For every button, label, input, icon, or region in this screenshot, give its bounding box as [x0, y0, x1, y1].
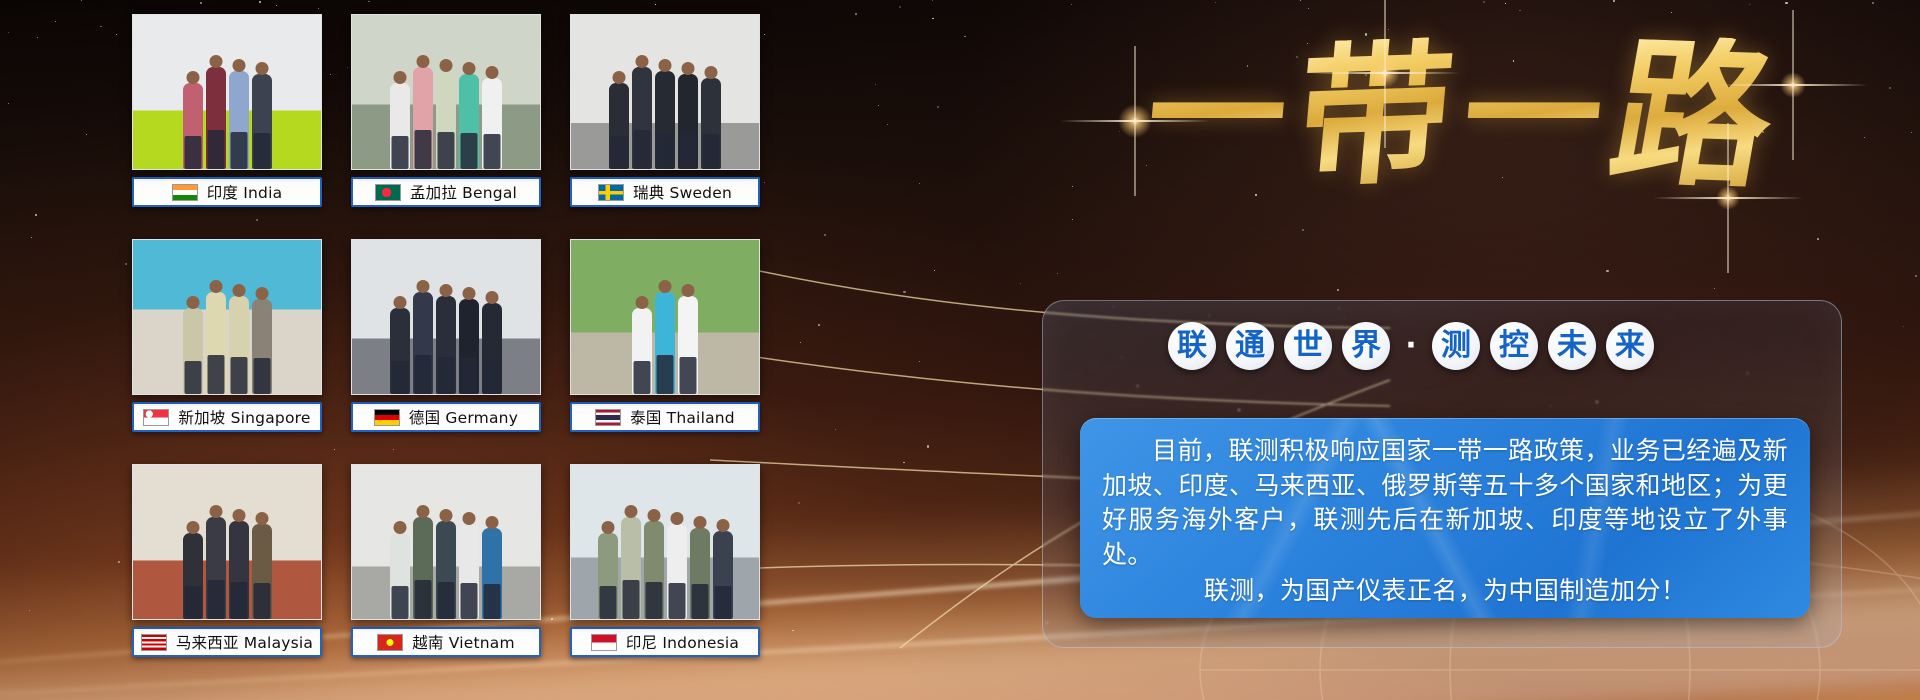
photo-image-bengal: [351, 14, 541, 170]
photo-people: [352, 49, 540, 169]
person-silhouette: [413, 517, 433, 619]
slogan-char: 世: [1284, 322, 1332, 370]
person-silhouette: [655, 292, 675, 394]
blurb-paragraph: 目前，联测积极响应国家一带一路政策，业务已经遍及新加坡、印度、马来西亚、俄罗斯等…: [1102, 434, 1788, 572]
flag-germany-icon: [374, 409, 400, 426]
person-silhouette: [701, 78, 721, 169]
person-silhouette: [183, 83, 203, 169]
slogan-char: 界: [1342, 322, 1390, 370]
photo-label-sweden: 瑞典 Sweden: [570, 177, 760, 207]
person-silhouette: [667, 524, 687, 619]
photo-people: [571, 499, 759, 619]
flag-sweden-icon: [598, 184, 624, 201]
photo-card-malaysia[interactable]: 马来西亚 Malaysia: [132, 464, 322, 674]
person-silhouette: [621, 517, 641, 619]
person-silhouette: [632, 67, 652, 169]
person-silhouette: [598, 533, 618, 619]
photo-people: [571, 274, 759, 394]
person-silhouette: [252, 299, 272, 394]
photo-people: [133, 274, 321, 394]
slogan: 联通世界·测控未来: [1168, 322, 1654, 370]
photo-label-text: 新加坡 Singapore: [178, 406, 310, 428]
banner-stage: 印度 India孟加拉 Bengal瑞典 Sweden新加坡 Singapore…: [0, 0, 1920, 700]
person-silhouette: [390, 308, 410, 394]
slogan-char: 通: [1226, 322, 1274, 370]
flag-bangladesh-icon: [375, 184, 401, 201]
photo-card-vietnam[interactable]: 越南 Vietnam: [351, 464, 541, 674]
photo-label-bengal: 孟加拉 Bengal: [351, 177, 541, 207]
photo-label-text: 德国 Germany: [409, 406, 518, 428]
photo-image-vietnam: [351, 464, 541, 620]
slogan-char: 来: [1606, 322, 1654, 370]
photo-label-text: 泰国 Thailand: [630, 406, 735, 428]
photo-card-bengal[interactable]: 孟加拉 Bengal: [351, 14, 541, 224]
person-silhouette: [482, 528, 502, 619]
photo-label-germany: 德国 Germany: [351, 402, 541, 432]
photo-image-sweden: [570, 14, 760, 170]
photo-label-text: 瑞典 Sweden: [633, 181, 732, 203]
person-silhouette: [644, 521, 664, 619]
person-silhouette: [459, 74, 479, 169]
flag-thailand-icon: [595, 409, 621, 426]
photo-label-text: 越南 Vietnam: [412, 631, 515, 653]
photo-image-india: [132, 14, 322, 170]
flag-vietnam-icon: [377, 634, 403, 651]
person-silhouette: [690, 528, 710, 619]
blurb-closing: 联测，为国产仪表正名，为中国制造加分！: [1102, 574, 1788, 609]
person-silhouette: [229, 71, 249, 169]
photo-label-text: 马来西亚 Malaysia: [176, 631, 313, 653]
flag-india-icon: [172, 184, 198, 201]
person-silhouette: [183, 308, 203, 394]
slogan-char: 控: [1490, 322, 1538, 370]
person-silhouette: [459, 299, 479, 394]
person-silhouette: [436, 521, 456, 619]
photo-people: [352, 274, 540, 394]
person-silhouette: [436, 71, 456, 169]
photo-card-indonesia[interactable]: 印尼 Indonesia: [570, 464, 760, 674]
person-silhouette: [390, 533, 410, 619]
person-silhouette: [252, 74, 272, 169]
photo-card-sweden[interactable]: 瑞典 Sweden: [570, 14, 760, 224]
person-silhouette: [390, 83, 410, 169]
person-silhouette: [482, 303, 502, 394]
photo-card-germany[interactable]: 德国 Germany: [351, 239, 541, 449]
person-silhouette: [655, 71, 675, 169]
person-silhouette: [229, 296, 249, 394]
person-silhouette: [436, 296, 456, 394]
photo-image-singapore: [132, 239, 322, 395]
photo-label-singapore: 新加坡 Singapore: [132, 402, 322, 432]
person-silhouette: [206, 517, 226, 619]
slogan-char: 联: [1168, 322, 1216, 370]
photo-image-germany: [351, 239, 541, 395]
photo-people: [352, 499, 540, 619]
person-silhouette: [183, 533, 203, 619]
photo-label-india: 印度 India: [132, 177, 322, 207]
photo-label-malaysia: 马来西亚 Malaysia: [132, 627, 322, 657]
photo-people: [133, 49, 321, 169]
photo-label-indonesia: 印尼 Indonesia: [570, 627, 760, 657]
flag-malaysia-icon: [141, 634, 167, 651]
person-silhouette: [482, 78, 502, 169]
person-silhouette: [609, 83, 629, 169]
country-photo-grid: 印度 India孟加拉 Bengal瑞典 Sweden新加坡 Singapore…: [132, 14, 760, 686]
slogan-separator: ·: [1400, 322, 1422, 370]
photo-image-indonesia: [570, 464, 760, 620]
person-silhouette: [229, 521, 249, 619]
photo-label-text: 印度 India: [207, 181, 283, 203]
person-silhouette: [252, 524, 272, 619]
photo-label-text: 印尼 Indonesia: [626, 631, 739, 653]
photo-image-malaysia: [132, 464, 322, 620]
photo-label-vietnam: 越南 Vietnam: [351, 627, 541, 657]
blurb-card: 目前，联测积极响应国家一带一路政策，业务已经遍及新加坡、印度、马来西亚、俄罗斯等…: [1080, 418, 1810, 618]
photo-people: [571, 49, 759, 169]
photo-image-thailand: [570, 239, 760, 395]
person-silhouette: [678, 296, 698, 394]
slogan-char: 未: [1548, 322, 1596, 370]
flag-indonesia-icon: [591, 634, 617, 651]
photo-people: [133, 499, 321, 619]
photo-card-india[interactable]: 印度 India: [132, 14, 322, 224]
person-silhouette: [713, 531, 733, 619]
photo-label-thailand: 泰国 Thailand: [570, 402, 760, 432]
person-silhouette: [459, 524, 479, 619]
slogan-char: 测: [1432, 322, 1480, 370]
person-silhouette: [678, 74, 698, 169]
person-silhouette: [206, 67, 226, 169]
person-silhouette: [632, 308, 652, 394]
photo-label-text: 孟加拉 Bengal: [410, 181, 517, 203]
photo-card-thailand[interactable]: 泰国 Thailand: [570, 239, 760, 449]
person-silhouette: [413, 67, 433, 169]
photo-card-singapore[interactable]: 新加坡 Singapore: [132, 239, 322, 449]
person-silhouette: [413, 292, 433, 394]
person-silhouette: [206, 292, 226, 394]
flag-singapore-icon: [143, 409, 169, 426]
